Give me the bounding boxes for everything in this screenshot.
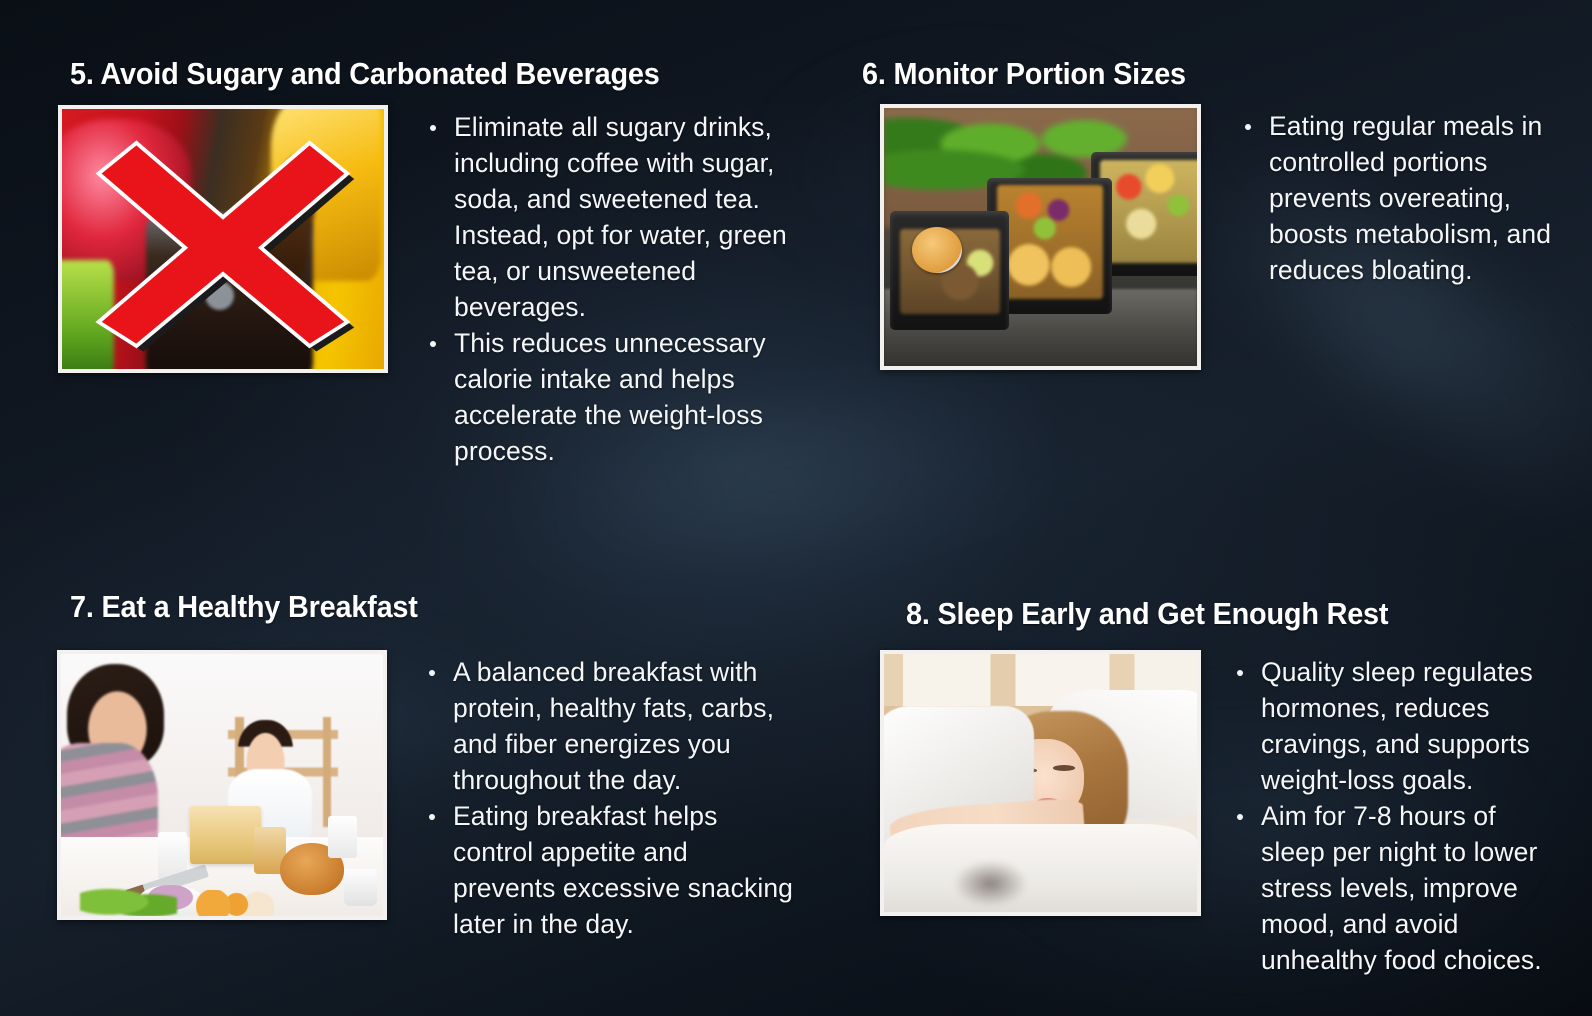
bullet-list-7: A balanced breakfast with protein, healt…: [423, 654, 797, 942]
slide-canvas: 5. Avoid Sugary and Carbonated Beverages: [0, 0, 1592, 1016]
heading-text: 8. Sleep Early and Get Enough Rest: [906, 596, 1388, 632]
heading-text: 5. Avoid Sugary and Carbonated Beverages: [70, 56, 660, 92]
bullet-list-5: Eliminate all sugary drinks, including c…: [424, 109, 798, 469]
heading-text: 6. Monitor Portion Sizes: [862, 56, 1186, 92]
section-body-6: Eating regular meals in controlled porti…: [880, 104, 1580, 370]
heading-text: 7. Eat a Healthy Breakfast: [70, 589, 418, 625]
section-body-5: Eliminate all sugary drinks, including c…: [58, 105, 798, 469]
section-heading-5: 5. Avoid Sugary and Carbonated Beverages: [70, 56, 704, 92]
list-item: Eating breakfast helps control appetite …: [423, 798, 797, 942]
section-heading-6: 6. Monitor Portion Sizes: [862, 56, 1210, 92]
section-body-8: Quality sleep regulates hormones, reduce…: [880, 650, 1580, 978]
sleeping-woman-photo: [880, 650, 1201, 916]
meal-prep-containers-photo: [880, 104, 1201, 370]
list-item: Aim for 7-8 hours of sleep per night to …: [1231, 798, 1563, 978]
list-item: This reduces unnecessary calorie intake …: [424, 325, 798, 469]
sugary-drinks-photo: [58, 105, 388, 373]
family-breakfast-image: [61, 654, 383, 916]
section-body-7: A balanced breakfast with protein, healt…: [57, 650, 797, 942]
list-item: A balanced breakfast with protein, healt…: [423, 654, 797, 798]
list-item: Eliminate all sugary drinks, including c…: [424, 109, 798, 325]
bullet-list-6: Eating regular meals in controlled porti…: [1239, 108, 1561, 288]
list-item: Quality sleep regulates hormones, reduce…: [1231, 654, 1563, 798]
red-x-icon: [62, 109, 384, 369]
list-item: Eating regular meals in controlled porti…: [1239, 108, 1561, 288]
sugary-drinks-image: [62, 109, 384, 369]
section-heading-7: 7. Eat a Healthy Breakfast: [70, 589, 444, 625]
meal-prep-image: [884, 108, 1197, 366]
section-heading-8: 8. Sleep Early and Get Enough Rest: [906, 596, 1425, 632]
family-breakfast-photo: [57, 650, 387, 920]
sleeping-woman-image: [884, 654, 1197, 912]
bullet-list-8: Quality sleep regulates hormones, reduce…: [1231, 654, 1563, 978]
